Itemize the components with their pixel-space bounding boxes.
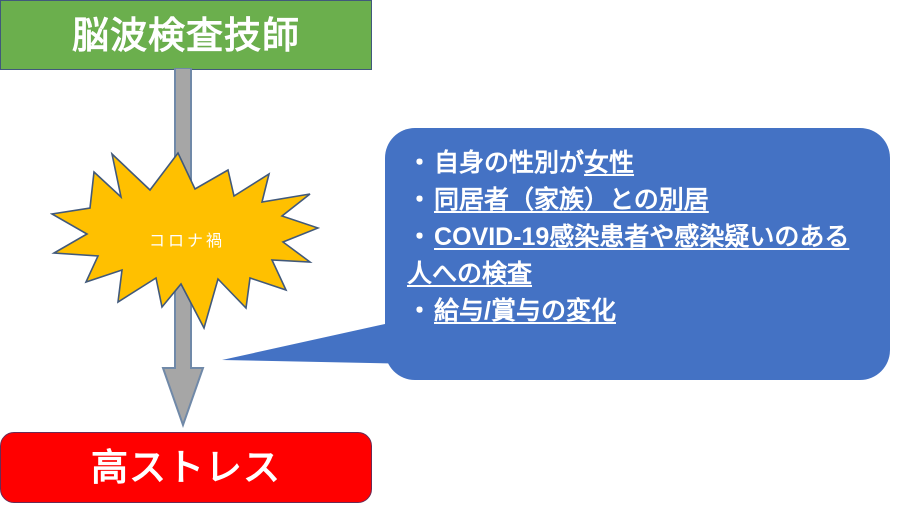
callout-list-item: ・給与/賞与の変化	[407, 293, 872, 330]
outcome-box-label: 高ストレス	[91, 449, 281, 486]
bullet-icon: ・	[407, 145, 432, 182]
cause-box-label: 脳波検査技師	[72, 17, 300, 54]
callout-factor-list: ・自身の性別が女性・同居者（家族）との別居・COVID-19感染患者や感染疑いの…	[407, 145, 872, 330]
outcome-box-high-stress[interactable]: 高ストレス	[0, 432, 372, 503]
starburst-icon	[50, 150, 320, 330]
underlined-text: 給与/賞与の変化	[434, 297, 616, 325]
callout-item-text: 同居者（家族）との別居	[434, 182, 709, 219]
callout-list-item: ・自身の性別が女性	[407, 145, 872, 182]
callout-item-text: 給与/賞与の変化	[434, 293, 616, 330]
cause-box-eeg-technician[interactable]: 脳波検査技師	[0, 0, 372, 70]
underlined-text: 女性	[584, 149, 634, 177]
underlined-text: 同居者（家族）との別居	[434, 186, 709, 214]
plain-text: 自身の性別が	[434, 149, 584, 177]
bullet-icon: ・	[407, 293, 432, 330]
callout-list-item: ・COVID-19感染患者や感染疑いのある人への検査	[407, 219, 872, 293]
slide-canvas: 脳波検査技師 コロナ禍 ・自身の性別が女性・同居者（家族）との別居・COVID-…	[0, 0, 900, 514]
callout-item-text: 自身の性別が女性	[434, 145, 634, 182]
callout-item-text: COVID-19感染患者や感染疑いのある人への検査	[407, 223, 849, 288]
callout-list-item: ・同居者（家族）との別居	[407, 182, 872, 219]
bullet-icon: ・	[407, 182, 432, 219]
bullet-icon: ・	[407, 223, 432, 251]
underlined-text: COVID-19感染患者や感染疑いのある人への検査	[407, 223, 849, 288]
callout-stress-factors[interactable]: ・自身の性別が女性・同居者（家族）との別居・COVID-19感染患者や感染疑いの…	[385, 128, 890, 380]
